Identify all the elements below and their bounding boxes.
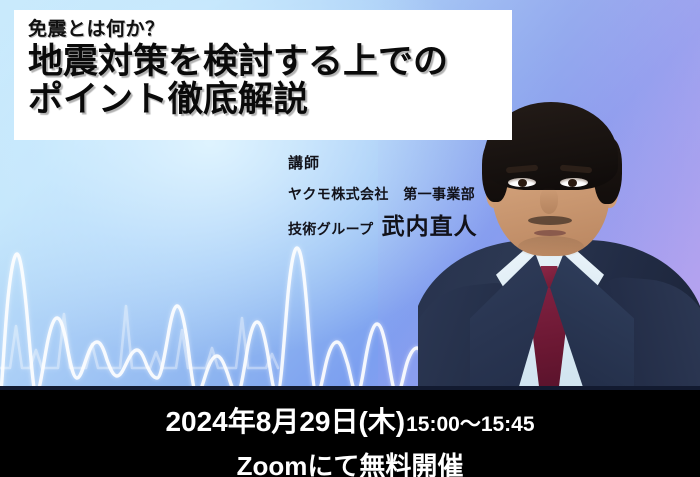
speaker-company: ヤクモ株式会社 第一事業部 xyxy=(288,187,478,201)
title-line-2: ポイント徹底解説 xyxy=(28,81,512,119)
title-line-1: 地震対策を検討する上での xyxy=(28,43,512,81)
speaker-role-label: 講師 xyxy=(288,156,478,171)
footer-bar: 2024年8月29日(木) 15:00〜15:45 Zoomにて無料開催 xyxy=(0,390,700,477)
speaker-name: 武内直人 xyxy=(382,213,478,239)
speaker-department: 技術グループ xyxy=(288,221,374,237)
presenter-moustache xyxy=(528,216,572,225)
speaker-block: 講師 ヤクモ株式会社 第一事業部 技術グループ武内直人 xyxy=(288,156,478,238)
speaker-name-line: 技術グループ武内直人 xyxy=(288,215,478,238)
footer-date: 2024年8月29日(木) xyxy=(165,400,405,440)
footer-platform: Zoomにて無料開催 xyxy=(0,446,700,477)
title-kicker: 免震とは何か？ xyxy=(28,20,512,41)
presenter-chin-shadow xyxy=(518,236,584,258)
seminar-banner: 免震とは何か？ 地震対策を検討する上での ポイント徹底解説 講師 ヤクモ株式会社… xyxy=(0,0,700,477)
presenter-pupil-left xyxy=(518,179,527,187)
footer-time: 15:00〜15:45 xyxy=(406,408,534,438)
presenter-nose xyxy=(540,188,558,214)
title-card: 免震とは何か？ 地震対策を検討する上での ポイント徹底解説 xyxy=(14,10,512,140)
footer-datetime-line: 2024年8月29日(木) 15:00〜15:45 xyxy=(0,400,700,440)
presenter-pupil-right xyxy=(568,179,577,187)
